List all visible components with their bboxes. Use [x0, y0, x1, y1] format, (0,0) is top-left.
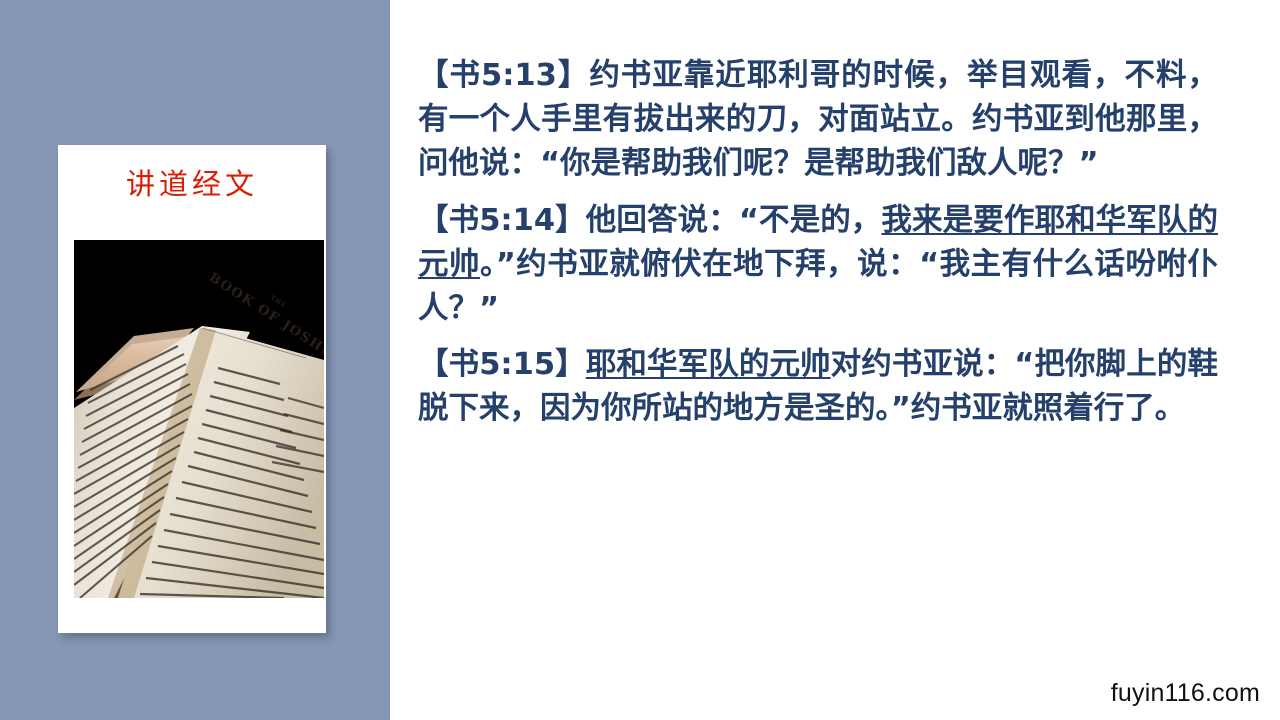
bible-photo: THE BOOK OF JOSHUA	[74, 240, 324, 598]
verse-text: 。”约书亚就俯伏在地下拜，说：“我主有什么话吩咐仆人？”	[418, 247, 1218, 326]
verse-reference: 【书5:15】	[418, 347, 586, 382]
slide-root: 讲道经文	[0, 0, 1280, 720]
card-title: 讲道经文	[58, 169, 326, 201]
verse-josh-5-14: 【书5:14】他回答说：“不是的，我来是要作耶和华军队的元帅。”约书亚就俯伏在地…	[418, 199, 1218, 331]
verse-reference: 【书5:14】	[418, 203, 586, 238]
verse-reference: 【书5:13】	[418, 58, 589, 93]
verse-list: 【书5:13】约书亚靠近耶利哥的时候，举目观看，不料，有一个人手里有拔出来的刀，…	[418, 54, 1218, 431]
scripture-card: 讲道经文	[58, 145, 326, 633]
verse-text-underlined: 耶和华军队的元帅	[586, 347, 831, 382]
site-watermark: fuyin116.com	[1111, 679, 1260, 708]
verse-josh-5-13: 【书5:13】约书亚靠近耶利哥的时候，举目观看，不料，有一个人手里有拔出来的刀，…	[418, 54, 1218, 186]
verse-josh-5-15: 【书5:15】耶和华军队的元帅对约书亚说：“把你脚上的鞋脱下来，因为你所站的地方…	[418, 343, 1218, 431]
verse-text: 他回答说：“不是的，	[586, 203, 882, 238]
